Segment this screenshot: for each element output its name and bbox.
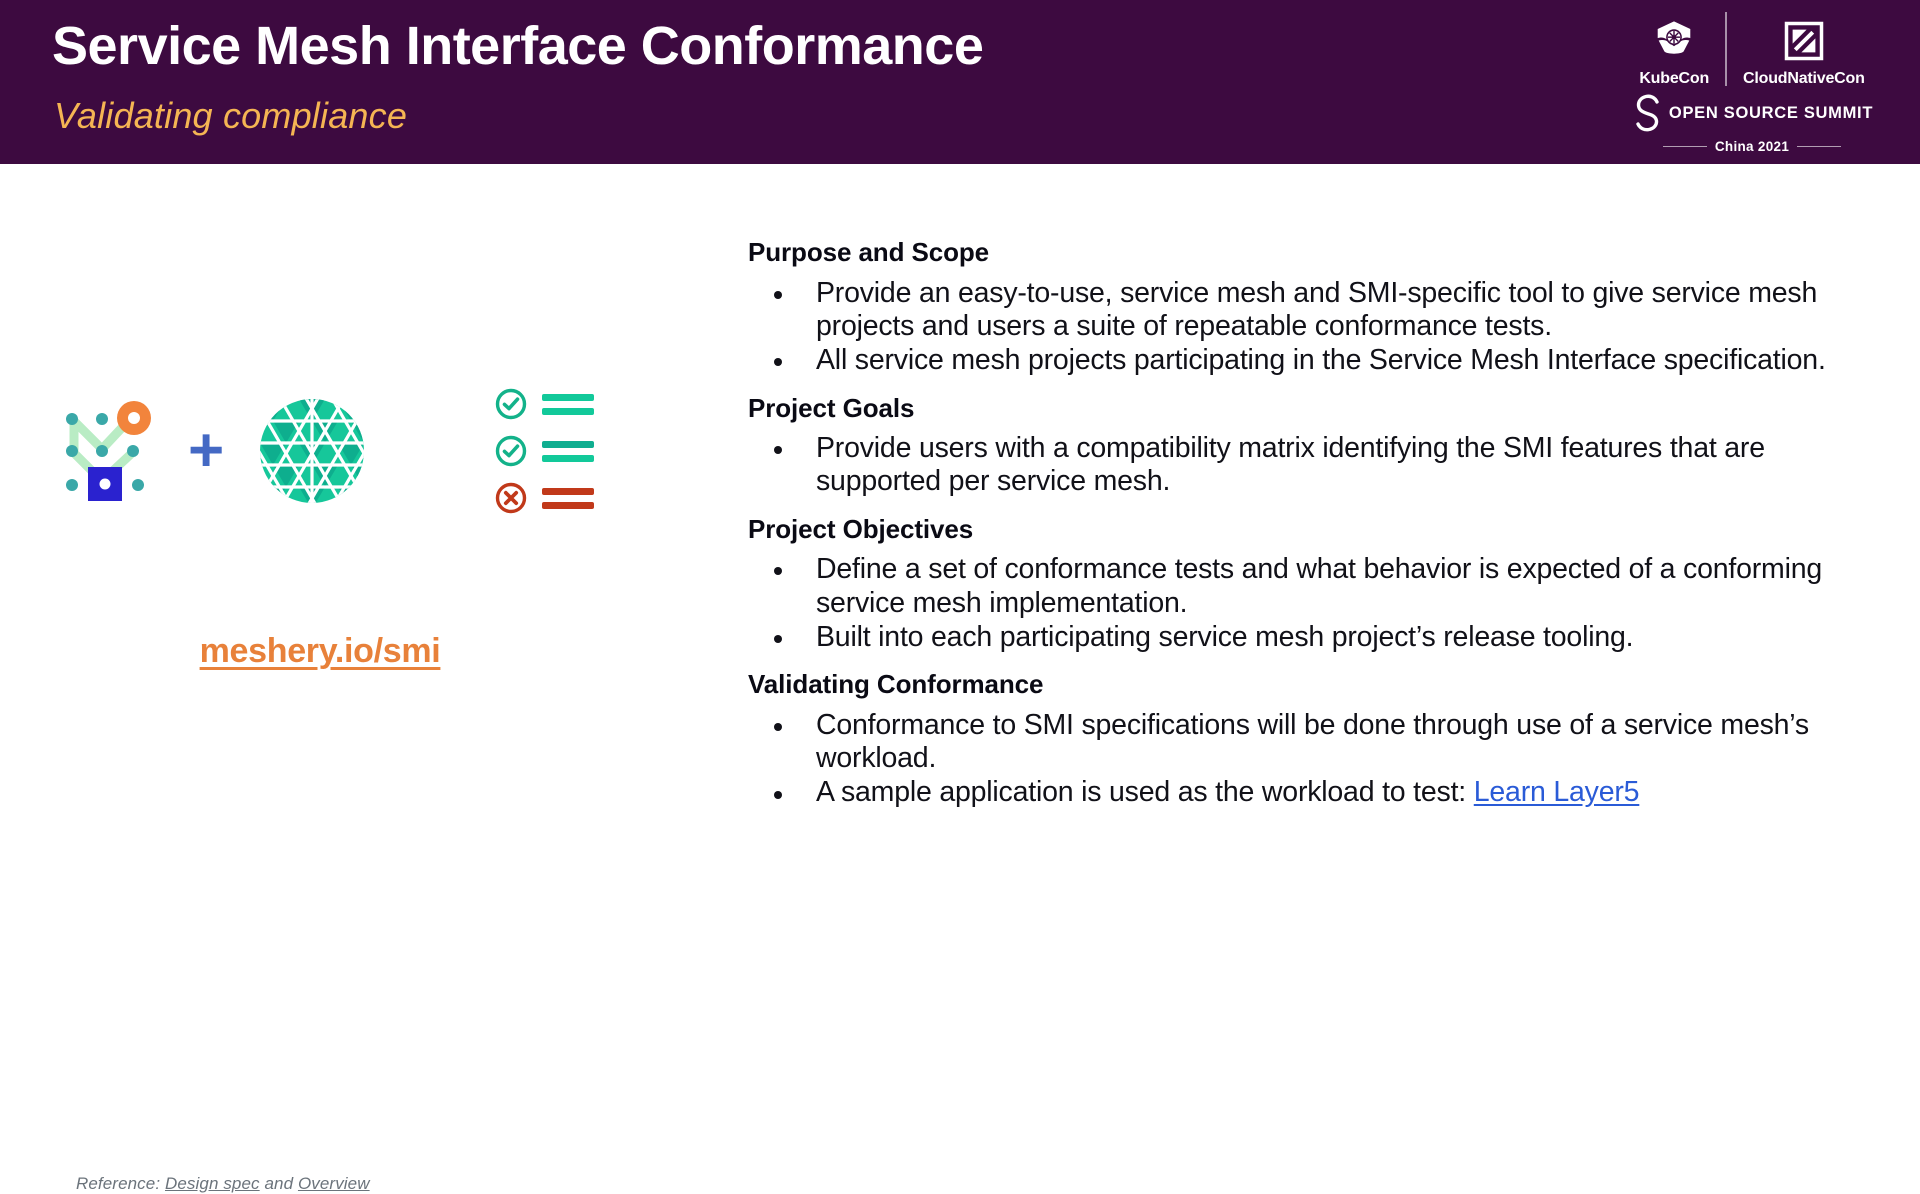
result-row-pass-2 [494,434,594,468]
bullet-dot-icon [774,446,782,454]
list-item-text: Provide an easy-to-use, service mesh and… [816,277,1817,342]
page-title: Service Mesh Interface Conformance [52,18,983,75]
list-item: Built into each participating service me… [748,621,1878,654]
reference-footer: Reference: Design spec and Overview [76,1174,370,1194]
bullet-dot-icon [774,723,782,731]
list-item: Define a set of conformance tests and wh… [748,553,1878,620]
reference-design-spec-link[interactable]: Design spec [165,1174,260,1193]
bullet-dot-icon [774,291,782,299]
cncf-square-icon [1783,17,1825,65]
bullet-list: Provide users with a compatibility matri… [748,432,1878,499]
service-mesh-sphere-icon [254,393,370,509]
list-item: Conformance to SMI specifications will b… [748,709,1878,776]
section-heading: Validating Conformance [748,668,1878,701]
list-item-text: Define a set of conformance tests and wh… [816,553,1822,618]
result-lines-pass-2 [542,441,594,462]
plus-operator: + [188,420,224,482]
kubernetes-helm-icon [1651,17,1697,65]
reference-prefix: Reference: [76,1174,165,1193]
result-lines-pass-1 [542,394,594,415]
content-column: Purpose and Scope Provide an easy-to-use… [748,236,1878,824]
year-rule-left [1663,146,1707,148]
list-item-text: All service mesh projects participating … [816,344,1826,376]
bullet-list: Provide an easy-to-use, service mesh and… [748,277,1878,378]
open-source-summit-logo: OPEN SOURCE SUMMIT [1631,92,1873,134]
list-item-text: A sample application is used as the work… [816,776,1474,808]
conference-year: China 2021 [1632,139,1872,154]
list-item: Provide an easy-to-use, service mesh and… [748,277,1878,344]
bullet-list: Conformance to SMI specifications will b… [748,709,1878,810]
reference-conjunction: and [260,1174,298,1193]
cloudnativecon-logo: CloudNativeCon [1729,17,1879,88]
year-label: China 2021 [1715,139,1789,154]
equals-operator [400,422,458,480]
meshery-smi-link[interactable]: meshery.io/smi [0,632,640,671]
cloudnativecon-label: CloudNativeCon [1743,70,1865,88]
bullet-list: Define a set of conformance tests and wh… [748,553,1878,654]
list-item-text: Built into each participating service me… [816,621,1633,653]
result-lines-fail [542,488,594,509]
page-subtitle: Validating compliance [54,96,407,136]
section-heading: Project Goals [748,392,1878,425]
kubecon-label: KubeCon [1639,70,1709,88]
section-heading: Project Objectives [748,513,1878,546]
logo-divider [1725,12,1727,86]
list-item: All service mesh projects participating … [748,344,1878,377]
list-item-text: Conformance to SMI specifications will b… [816,709,1809,774]
section-project-objectives: Project Objectives Define a set of confo… [748,513,1878,655]
slide-header: Service Mesh Interface Conformance Valid… [0,0,1920,164]
section-project-goals: Project Goals Provide users with a compa… [748,392,1878,499]
smi-logo [50,395,162,507]
list-item-text: Provide users with a compatibility matri… [816,432,1765,497]
linux-foundation-s-icon [1631,92,1665,134]
learn-layer5-link[interactable]: Learn Layer5 [1474,776,1640,808]
kubecon-logo: KubeCon [1625,17,1723,88]
year-rule-right [1797,146,1841,148]
conformance-equation-graphic: + [50,386,650,516]
list-item: Provide users with a compatibility matri… [748,432,1878,499]
check-circle-icon [494,387,528,421]
section-heading: Purpose and Scope [748,236,1878,269]
list-item: A sample application is used as the work… [748,776,1878,809]
open-source-summit-label: OPEN SOURCE SUMMIT [1669,104,1873,123]
section-purpose-and-scope: Purpose and Scope Provide an easy-to-use… [748,236,1878,378]
left-visual-column: + [0,164,740,1080]
bullet-dot-icon [774,358,782,366]
result-row-fail [494,481,594,515]
bullet-dot-icon [774,635,782,643]
conference-logo-lockup: KubeCon CloudNativeCon [1632,10,1872,154]
slide: Service Mesh Interface Conformance Valid… [0,0,1920,1080]
reference-overview-link[interactable]: Overview [298,1174,370,1193]
bullet-dot-icon [774,567,782,575]
check-circle-icon [494,434,528,468]
conformance-results-list [494,387,594,515]
section-validating-conformance: Validating Conformance Conformance to SM… [748,668,1878,810]
bullet-dot-icon [774,791,782,799]
result-row-pass-1 [494,387,594,421]
x-circle-icon [494,481,528,515]
